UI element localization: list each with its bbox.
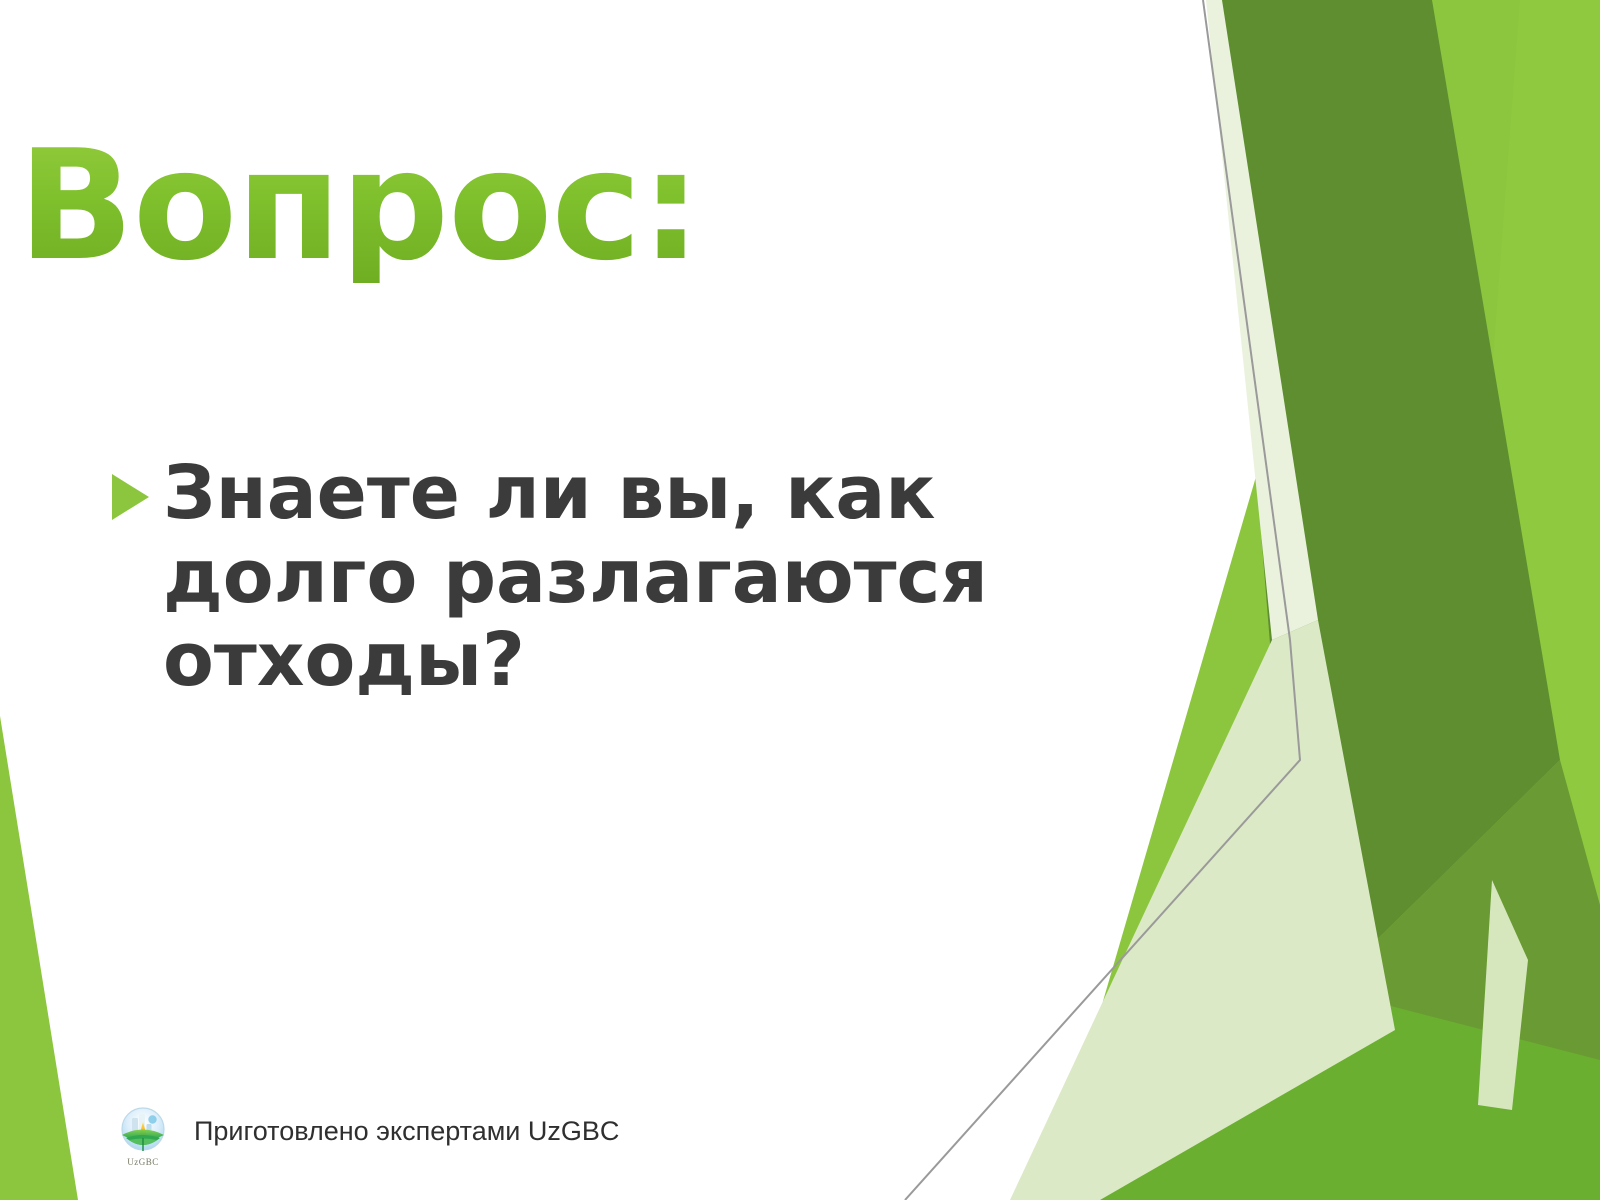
decor-right-bright-base: [1045, 0, 1600, 1200]
decor-olive-band-lower: [1300, 760, 1600, 1085]
title-block: Вопрос:: [18, 128, 1118, 283]
page-title: Вопрос:: [18, 128, 1118, 283]
footer: UzGBC Приготовлено экспертами UzGBC: [112, 1102, 619, 1164]
body-content-block: Знаете ли вы, как долго разлагаются отхо…: [112, 452, 1052, 703]
decor-pale-sliver-upper: [1206, 0, 1318, 640]
uzgbc-logo-svg: [112, 1102, 174, 1164]
decor-olive-band: [1218, 0, 1560, 1015]
decor-pale-wedge: [1010, 620, 1395, 1200]
triangle-right-bullet-icon: [112, 474, 149, 520]
bullet-item-text: Знаете ли вы, как долго разлагаются отхо…: [163, 452, 1052, 703]
decor-mid-green-triangle: [1080, 980, 1600, 1200]
footer-credit-text: Приготовлено экспертами UzGBC: [194, 1118, 619, 1149]
slide-canvas: Вопрос: Знаете ли вы, как долго разлагаю…: [0, 0, 1600, 1200]
decor-left-bottom-wedge: [0, 716, 78, 1200]
decor-hairline-lower: [905, 640, 1300, 1200]
uzgbc-logo-icon: UzGBC: [112, 1102, 174, 1164]
decor-hairline-upper: [1203, 0, 1290, 640]
decor-right-bright-column: [1430, 0, 1600, 1200]
logo-caption: UzGBC: [112, 1157, 174, 1167]
decor-pale-wedge-right: [1478, 880, 1528, 1110]
